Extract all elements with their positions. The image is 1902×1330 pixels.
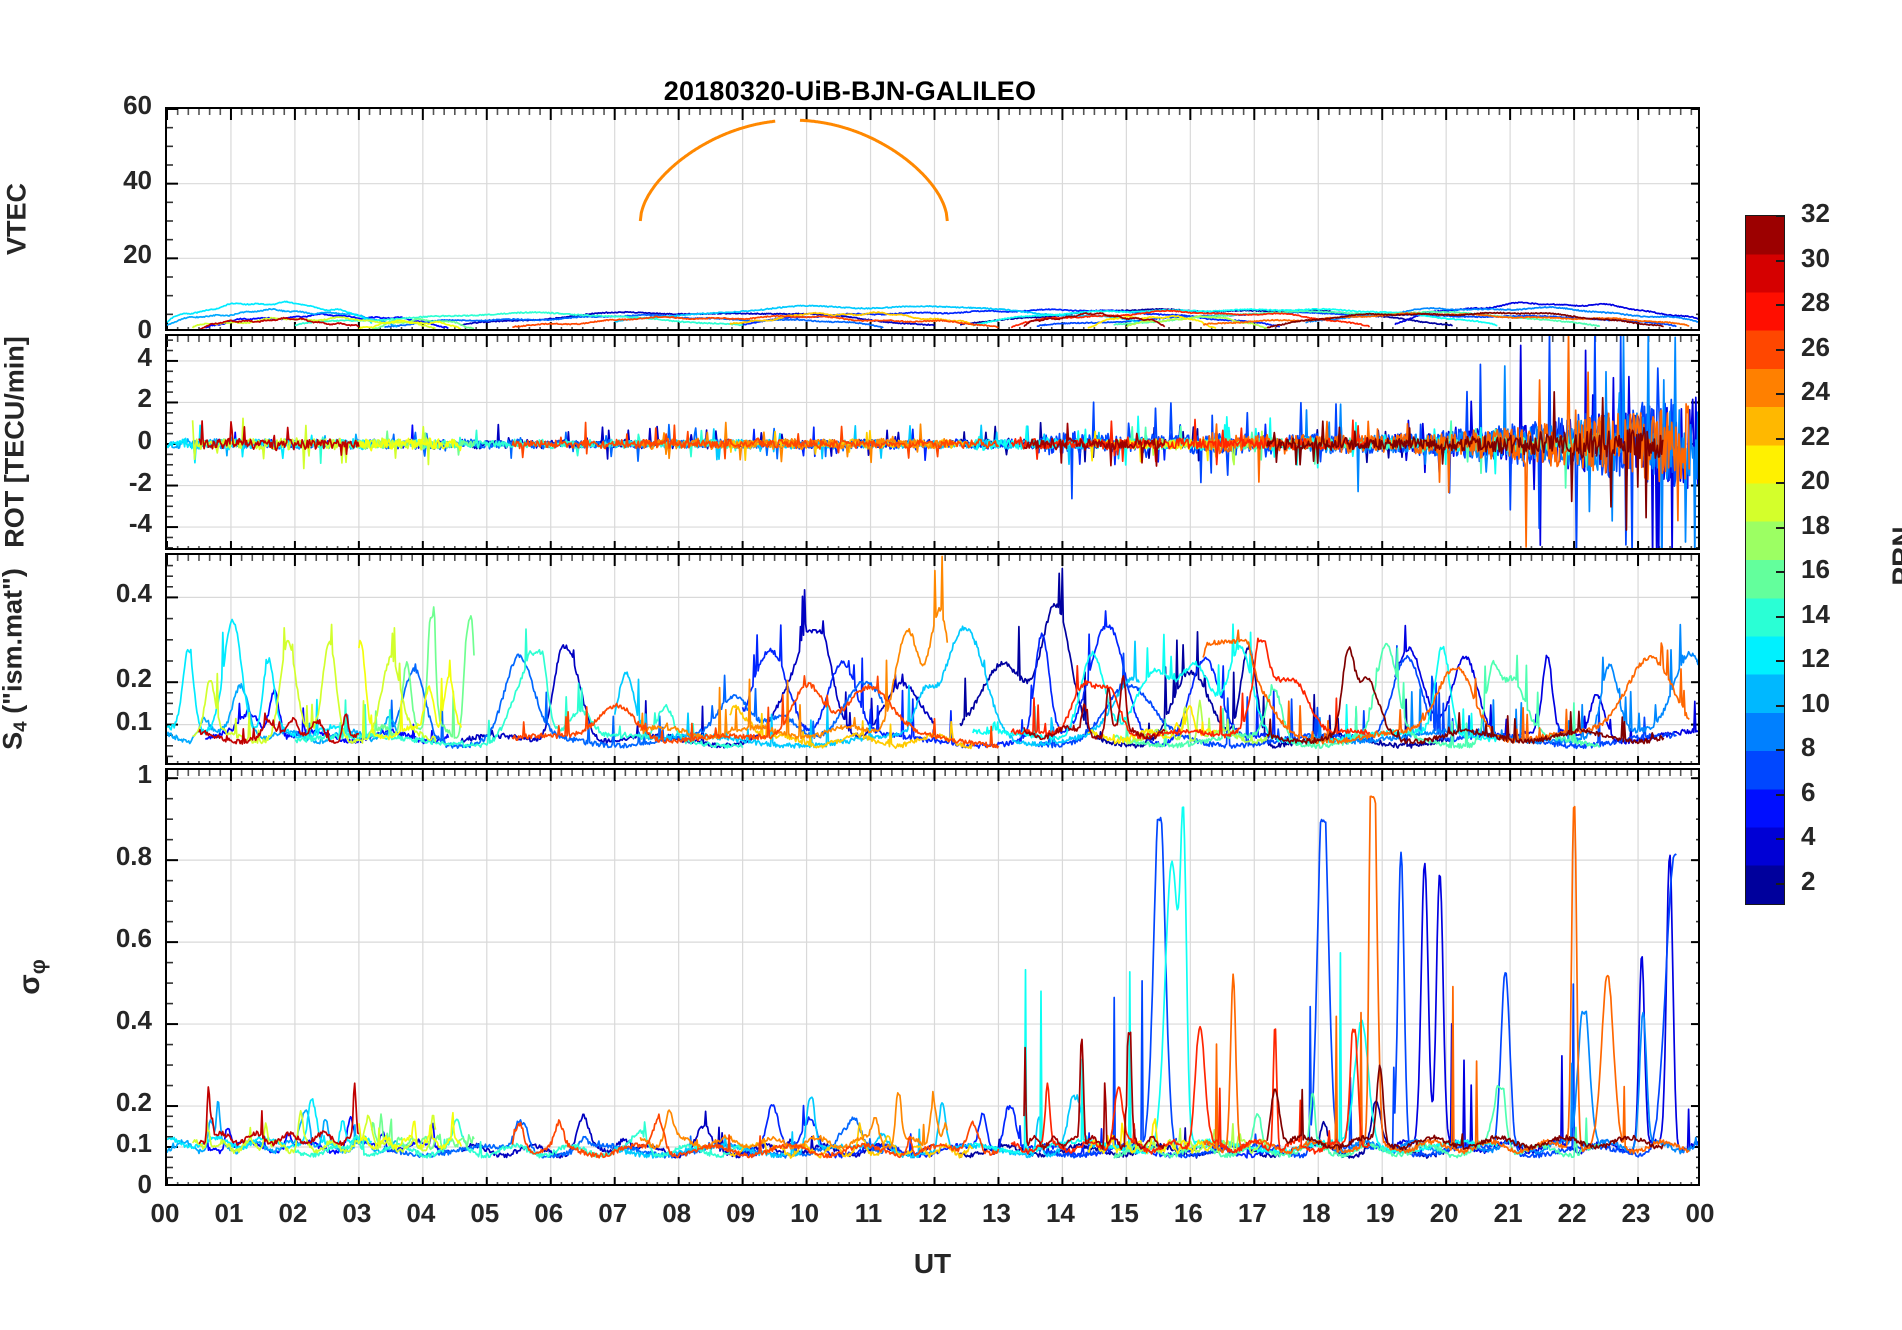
data-traces	[167, 556, 1700, 748]
xtick-24: 00	[1660, 1198, 1740, 1229]
colorbar-tickmark-16	[1776, 571, 1785, 573]
ytick-sigmaphi-5: 0.8	[60, 841, 152, 872]
colorbar-tickmark-32	[1776, 215, 1785, 217]
colorbar-tick-2: 2	[1801, 866, 1815, 897]
colorbar-tickmark-8	[1776, 749, 1785, 751]
colorbar-tickmark-12	[1776, 660, 1785, 662]
ytick-vtec-3: 60	[60, 90, 152, 121]
colorbar-label: PRN	[1887, 526, 1902, 585]
colorbar-tick-30: 30	[1801, 243, 1830, 274]
trace-prn-30	[199, 318, 359, 330]
colorbar-tick-12: 12	[1801, 643, 1830, 674]
plot-panel-sigmaphi	[165, 768, 1700, 1186]
colorbar-tick-16: 16	[1801, 554, 1830, 585]
ytick-rot-4: 4	[60, 342, 152, 373]
plot-panel-rot	[165, 334, 1700, 550]
x-axis-label: UT	[833, 1248, 1033, 1280]
ytick-sigmaphi-2: 0.2	[60, 1087, 152, 1118]
trace-prn-30	[199, 1083, 359, 1145]
colorbar-tick-10: 10	[1801, 688, 1830, 719]
colorbar-tick-8: 8	[1801, 732, 1815, 763]
colorbar-tickmark-26	[1776, 349, 1785, 351]
colorbar-tickmark-30	[1776, 260, 1785, 262]
ytick-rot-1: -2	[60, 467, 152, 498]
ytick-s4-1: 0.2	[60, 663, 152, 694]
plot-panel-vtec	[165, 107, 1700, 331]
colorbar-tick-18: 18	[1801, 510, 1830, 541]
ytick-sigmaphi-3: 0.4	[60, 1005, 152, 1036]
colorbar-tickmark-24	[1776, 393, 1785, 395]
colorbar-tickmark-28	[1776, 304, 1785, 306]
ytick-rot-0: -4	[60, 508, 152, 539]
colorbar-tick-26: 26	[1801, 332, 1830, 363]
colorbar-tick-22: 22	[1801, 421, 1830, 452]
ytick-vtec-0: 0	[60, 314, 152, 345]
ytick-rot-2: 0	[60, 425, 152, 456]
colorbar-tickmark-20	[1776, 482, 1785, 484]
colorbar-tickmark-14	[1776, 616, 1785, 618]
ytick-rot-3: 2	[60, 383, 152, 414]
ytick-s4-0: 0.1	[60, 706, 152, 737]
ytick-sigmaphi-4: 0.6	[60, 923, 152, 954]
colorbar-tickmark-4	[1776, 838, 1785, 840]
ytick-s4-2: 0.4	[60, 578, 152, 609]
trace-prn-24	[640, 1092, 947, 1149]
colorbar-tick-14: 14	[1801, 599, 1830, 630]
colorbar-tick-32: 32	[1801, 198, 1830, 229]
colorbar-tickmark-2	[1776, 883, 1785, 885]
colorbar-tickmark-10	[1776, 705, 1785, 707]
colorbar-tickmark-22	[1776, 438, 1785, 440]
colorbar-tickmark-6	[1776, 794, 1785, 796]
ytick-sigmaphi-0: 0	[60, 1169, 152, 1200]
ytick-sigmaphi-1: 0.1	[60, 1128, 152, 1159]
plot-panel-s4	[165, 553, 1700, 765]
trace-prn-4	[1395, 855, 1700, 1153]
colorbar-tick-28: 28	[1801, 287, 1830, 318]
data-traces	[167, 120, 1700, 330]
trace-prn-24	[640, 120, 947, 221]
colorbar-tick-6: 6	[1801, 777, 1815, 808]
colorbar-tick-20: 20	[1801, 465, 1830, 496]
colorbar-tickmark-18	[1776, 527, 1785, 529]
ytick-sigmaphi-6: 1	[60, 759, 152, 790]
figure-root: 20180320-UiB-BJN-GALILEO 0204060VTEC-4-2…	[0, 0, 1902, 1330]
colorbar	[1745, 215, 1785, 905]
ytick-vtec-2: 40	[60, 165, 152, 196]
colorbar-tick-4: 4	[1801, 821, 1815, 852]
gridlines	[167, 109, 1700, 331]
tick-marks	[167, 109, 1700, 331]
ytick-vtec-1: 20	[60, 239, 152, 270]
data-traces	[167, 796, 1700, 1158]
ylabel-sigmaphi: σφ	[13, 728, 47, 1226]
colorbar-tick-24: 24	[1801, 376, 1830, 407]
data-traces	[167, 336, 1700, 550]
figure-title: 20180320-UiB-BJN-GALILEO	[0, 76, 1700, 107]
